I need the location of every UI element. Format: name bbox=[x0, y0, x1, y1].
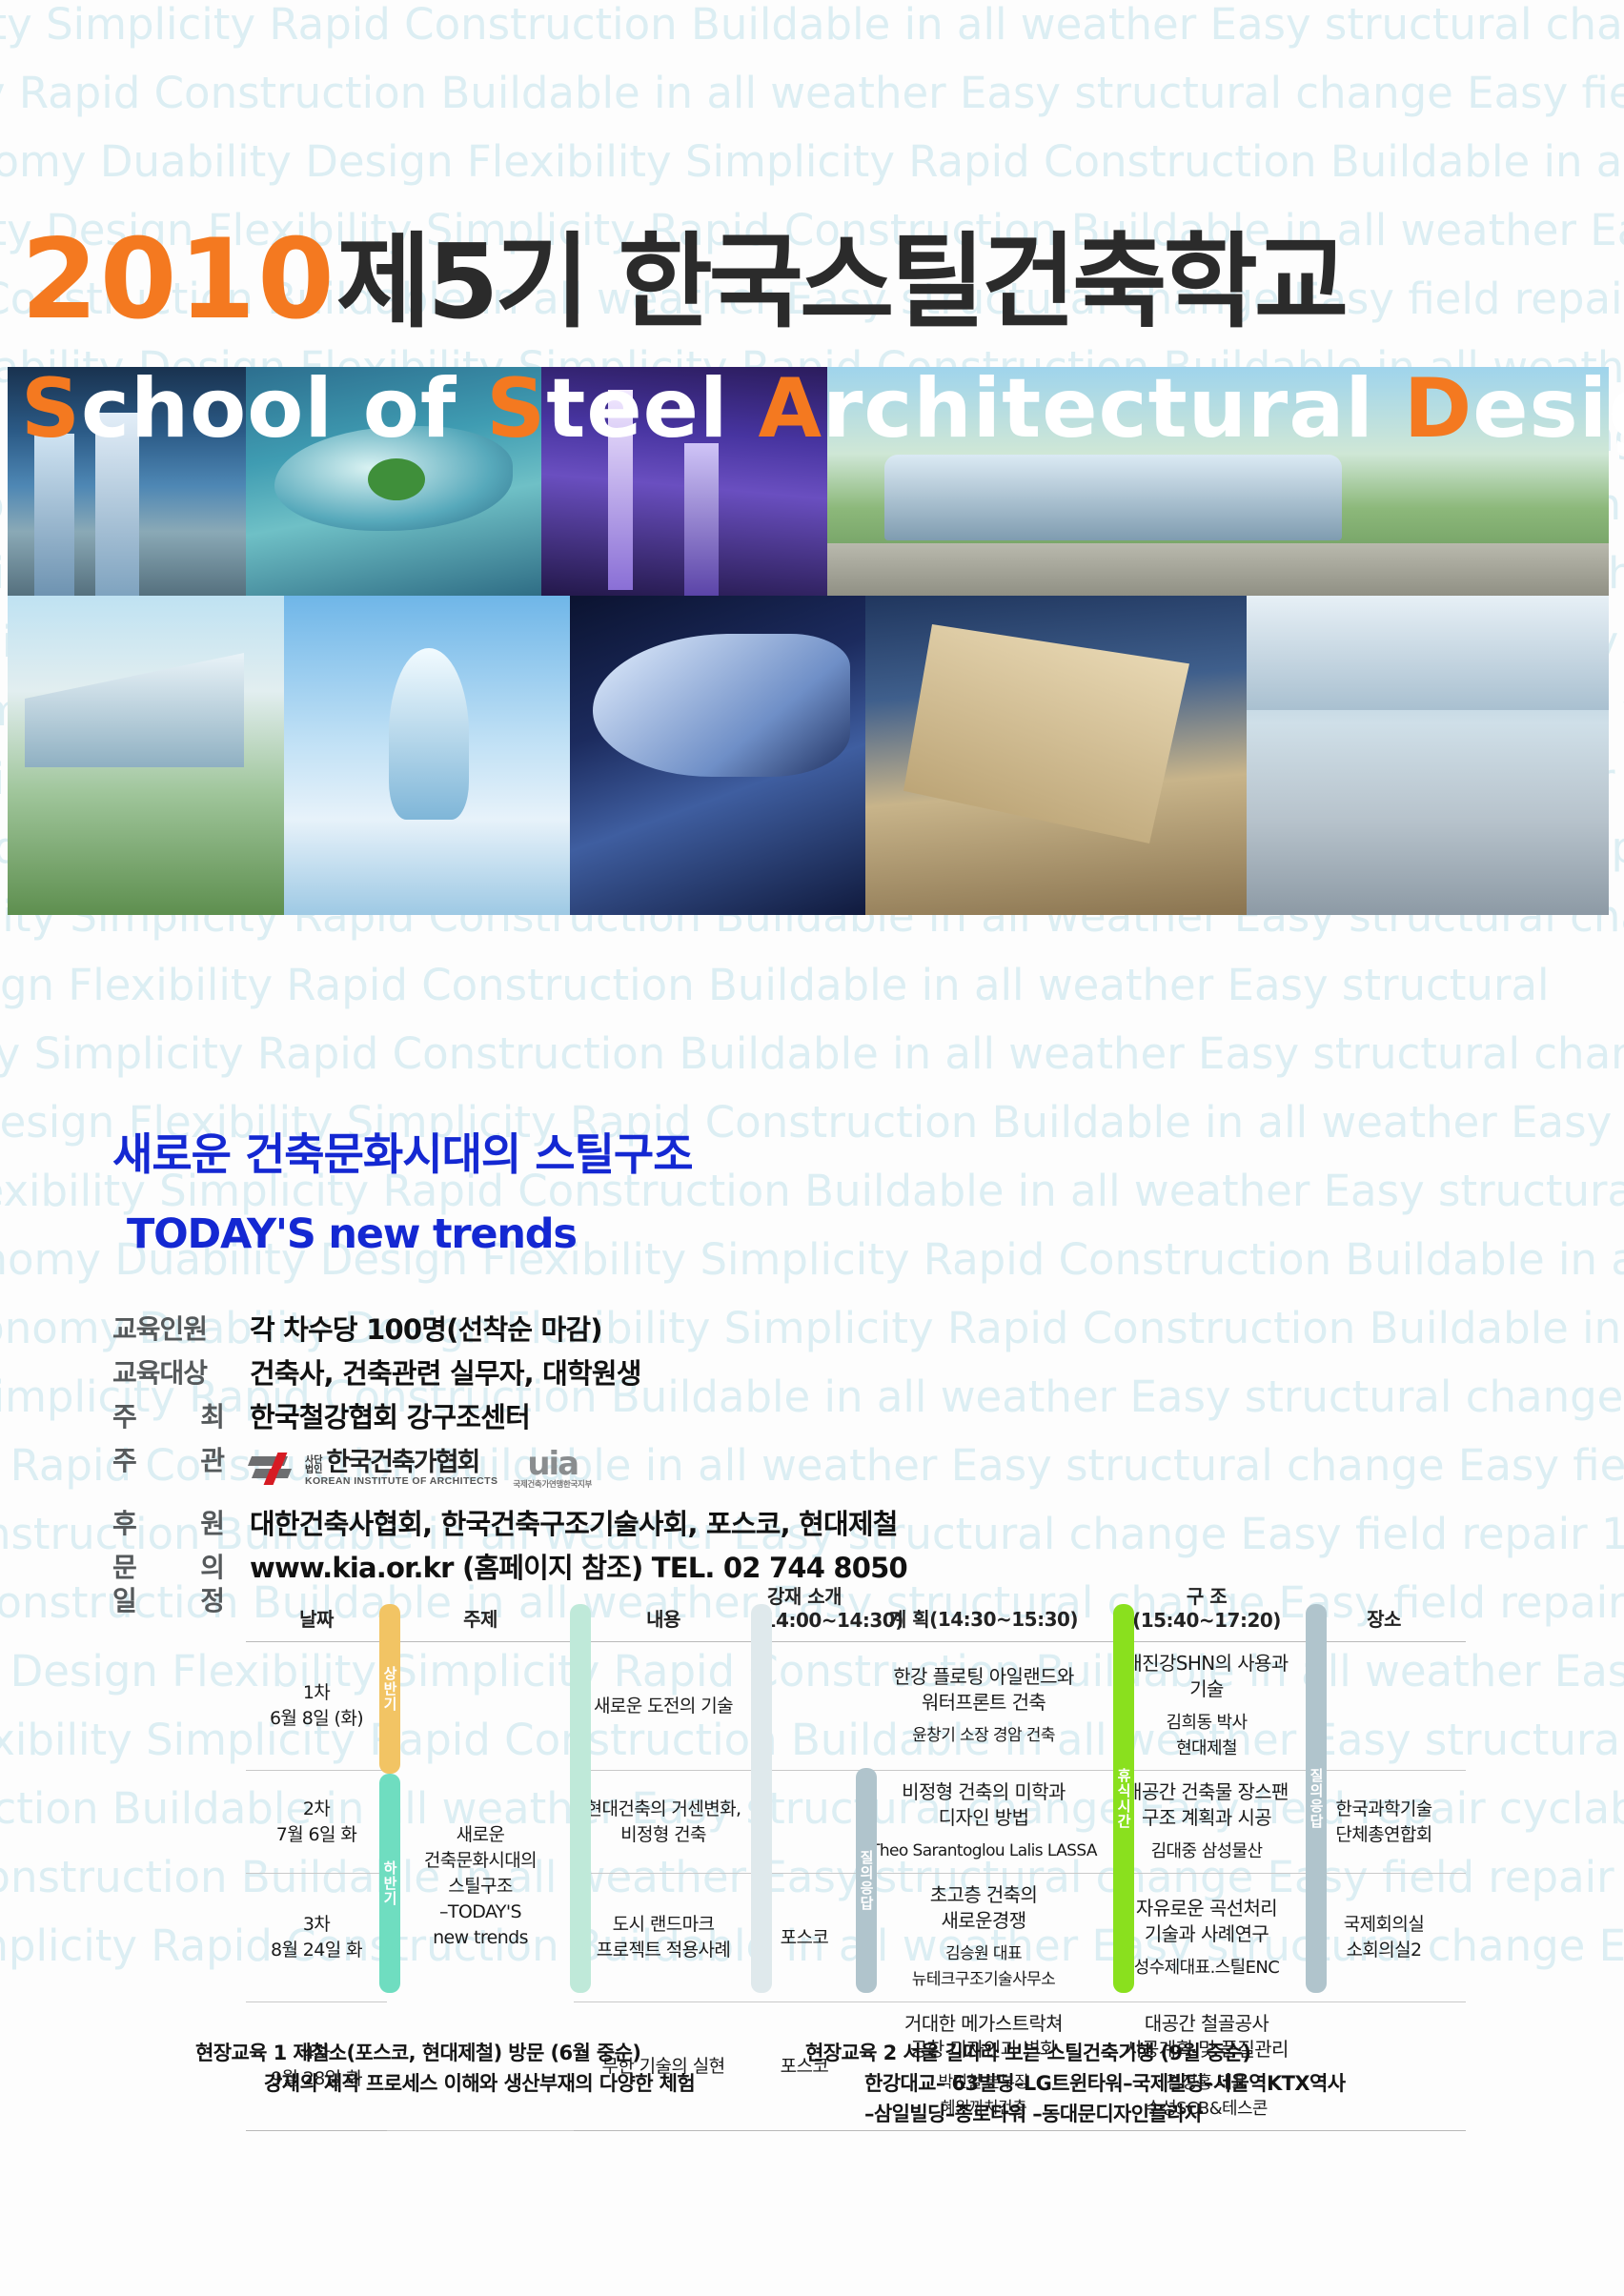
watermark-line: nomy Duability Design Flexibility Simpli… bbox=[0, 128, 1624, 196]
field-education-1-title: 현장교육 1 제철소(포스코, 현대제철) 방문 (6월 중순) bbox=[195, 2042, 640, 2064]
info-row-label: 문의 bbox=[112, 1549, 225, 1587]
headline-english: TODAY'S new trends bbox=[127, 1212, 577, 1256]
field-education-1-line2: 강재의 제작 프로세스 이해와 생산부재의 다양한 체험 bbox=[195, 2068, 695, 2099]
session-number: 1차 bbox=[303, 1682, 330, 1703]
table-header-cell: 내용 bbox=[574, 1577, 753, 1642]
table-header-cell: 계 획(14:30~15:30) bbox=[856, 1577, 1111, 1642]
kia-logo: 사단법인한국건축가협회KOREAN INSTITUTE OF ARCHITECT… bbox=[250, 1450, 497, 1488]
theme-line: –TODAY'S bbox=[391, 1900, 570, 1925]
upper-half-bar: 상반기 bbox=[379, 1604, 400, 1774]
poster-root: ility Simplicity Rapid Construction Buil… bbox=[0, 0, 1624, 2296]
cell-content: 현대건축의 거센변화,비정형 건축 bbox=[574, 1771, 753, 1874]
structure-title-line: 구조 계획과 시공 bbox=[1115, 1805, 1298, 1831]
plan-speaker-line: 뉴테크구조기술사무소 bbox=[860, 1967, 1107, 1993]
info-list: 교육인원각 차수당 100명(선착순 마감)교육대상건축사, 건축관련 실무자,… bbox=[0, 1311, 1624, 1593]
structure-speaker-line: 성수제대표.스틸ENC bbox=[1115, 1955, 1298, 1981]
uia-logo: uia국제건축가연맹한국지부 bbox=[513, 1449, 592, 1490]
photo-station-complex bbox=[8, 596, 284, 915]
field-education-2: 현장교육 2 서울 길따라 보는 스틸건축기행 (9월 중순) 한강대교– 63… bbox=[805, 2038, 1345, 2129]
break-bar: 휴식시간 bbox=[1113, 1604, 1134, 1993]
cell-content: 도시 랜드마크프로젝트 적용사례 bbox=[574, 1874, 753, 2002]
info-row-value: 대한건축사협회, 한국건축구조기술사회, 포스코, 현대제철 bbox=[250, 1505, 898, 1543]
info-row: 교육인원각 차수당 100명(선착순 마감) bbox=[0, 1311, 1624, 1351]
plan-speaker-line: Theo Sarantoglou Lalis LASSA bbox=[860, 1839, 1107, 1864]
title-block: 2010제5기 한국스틸건축학교 bbox=[0, 229, 1624, 335]
theme-line: 건축문화시대의 bbox=[391, 1848, 570, 1874]
structure-speaker-line: 김대중 삼성물산 bbox=[1115, 1839, 1298, 1864]
schedule-table-head: 날짜주제내용강재 소개(14:00~14:30)계 획(14:30~15:30)… bbox=[246, 1577, 1466, 1642]
kia-korean-name: 한국건축가협회 bbox=[326, 1450, 478, 1475]
photo-tower-sky bbox=[284, 596, 570, 915]
info-label-char: 문 bbox=[112, 1549, 137, 1587]
plan-title-line: 새로운경쟁 bbox=[860, 1908, 1107, 1934]
photo-curved-facade bbox=[570, 596, 865, 915]
table-header-cell: 주제 bbox=[387, 1577, 574, 1642]
kia-logo-text: 사단법인한국건축가협회KOREAN INSTITUTE OF ARCHITECT… bbox=[305, 1450, 497, 1488]
info-label-char: 최 bbox=[200, 1398, 225, 1436]
break-bar-label: 휴식시간 bbox=[1115, 1768, 1132, 1829]
qa-bar-1: 질의응답 bbox=[856, 1768, 877, 1993]
watermark-line: ility Simplicity Rapid Construction Buil… bbox=[0, 0, 1624, 59]
content-line: 비정형 건축 bbox=[578, 1822, 749, 1848]
uia-subtitle: 국제건축가연맹한국지부 bbox=[513, 1479, 592, 1490]
table-header-row: 날짜주제내용강재 소개(14:00~14:30)계 획(14:30~15:30)… bbox=[246, 1577, 1466, 1642]
structure-title-line: 기술과 사례연구 bbox=[1115, 1921, 1298, 1947]
schedule-label: 일정 bbox=[112, 1582, 225, 1620]
kia-mark-icon bbox=[250, 1453, 299, 1485]
cell-structure: 내진강SHN의 사용과 기술김희동 박사현대제철 bbox=[1111, 1642, 1302, 1771]
info-row-label: 후원 bbox=[112, 1505, 225, 1543]
info-row: 주최한국철강협회 강구조센터 bbox=[0, 1398, 1624, 1438]
plan-title-line: 워터프론트 건축 bbox=[860, 1690, 1107, 1716]
watermark-line: city Rapid Construction Buildable in all… bbox=[0, 59, 1624, 128]
field-education-1: 현장교육 1 제철소(포스코, 현대제철) 방문 (6월 중순) 강재의 제작 … bbox=[195, 2038, 695, 2099]
info-label-char: 의 bbox=[200, 1549, 225, 1587]
photo-montage bbox=[8, 367, 1609, 1067]
schedule-label-char: 일 bbox=[112, 1582, 137, 1620]
structure-title-line: 대공간 건축물 장스팬 bbox=[1115, 1779, 1298, 1805]
info-label-char: 원 bbox=[200, 1505, 225, 1543]
title-year: 2010 bbox=[21, 215, 336, 344]
plan-title-line: 비정형 건축의 미학과 bbox=[860, 1779, 1107, 1805]
place-line: 소회의실2 bbox=[1306, 1938, 1462, 1963]
content-line: 새로운 도전의 기술 bbox=[578, 1694, 749, 1719]
lower-half-bar-label: 하반기 bbox=[381, 1860, 398, 1906]
plan-title-line: 거대한 메가스트락쳐 bbox=[860, 2011, 1107, 2037]
photo-golden-pavilion bbox=[865, 596, 1247, 915]
plan-title-line: 한강 플로팅 아일랜드와 bbox=[860, 1664, 1107, 1690]
field-education-2-title: 현장교육 2 서울 길따라 보는 스틸건축기행 (9월 중순) bbox=[805, 2042, 1250, 2064]
structure-speaker-line: 김희동 박사 bbox=[1115, 1710, 1298, 1736]
theme-line: 스틸구조 bbox=[391, 1874, 570, 1900]
info-row-value: 한국철강협회 강구조센터 bbox=[250, 1398, 530, 1436]
photo-atrium-interior bbox=[1247, 596, 1609, 915]
field-education-2-line2: 한강대교– 63빌딩–LG트윈타워–국제빌딩–서울역KTX역사 bbox=[805, 2068, 1345, 2099]
cell-structure: 대공간 건축물 장스팬구조 계획과 시공김대중 삼성물산 bbox=[1111, 1771, 1302, 1874]
info-row: 후원대한건축사협회, 한국건축구조기술사회, 포스코, 현대제철 bbox=[0, 1505, 1624, 1545]
title-english-overlay: School of Steel Architectural Design bbox=[0, 353, 1624, 467]
info-label-char: 주 bbox=[112, 1442, 137, 1480]
content-divider-bar bbox=[751, 1604, 772, 1993]
theme-divider-bar bbox=[570, 1604, 591, 1993]
cell-plan: 비정형 건축의 미학과디자인 방법Theo Sarantoglou Lalis … bbox=[856, 1771, 1111, 1874]
theme-line: new trends bbox=[391, 1925, 570, 1951]
session-date: 8월 24일 화 bbox=[271, 1940, 362, 1961]
session-date: 6월 8일 (화) bbox=[270, 1708, 363, 1729]
table-header-cell: 구 조(15:40~17:20) bbox=[1111, 1577, 1302, 1642]
structure-speaker-line: 현대제철 bbox=[1115, 1736, 1298, 1761]
table-header-cell: 날짜 bbox=[246, 1577, 387, 1642]
cell-structure: 자유로운 곡선처리기술과 사례연구성수제대표.스틸ENC bbox=[1111, 1874, 1302, 2002]
info-row-label: 교육대상 bbox=[112, 1354, 225, 1392]
place-line: 국제회의실 bbox=[1306, 1912, 1462, 1938]
host-logos: 사단법인한국건축가협회KOREAN INSTITUTE OF ARCHITECT… bbox=[250, 1442, 592, 1495]
session-number: 3차 bbox=[303, 1914, 330, 1935]
upper-half-bar-label: 상반기 bbox=[381, 1666, 398, 1712]
content-line: 프로젝트 적용사례 bbox=[578, 1938, 749, 1963]
content-line: 현대건축의 거센변화, bbox=[578, 1797, 749, 1822]
photo-row-bottom bbox=[8, 596, 1609, 915]
place-line: 한국과학기술 bbox=[1306, 1797, 1462, 1822]
kia-english-name: KOREAN INSTITUTE OF ARCHITECTS bbox=[305, 1475, 497, 1488]
structure-title-line: 자유로운 곡선처리 bbox=[1115, 1896, 1298, 1921]
place-line: 단체총연합회 bbox=[1306, 1822, 1462, 1848]
structure-title-line: 대공간 철골공사 bbox=[1115, 2011, 1298, 2037]
table-row: 1차6월 8일 (화)새로운건축문화시대의스틸구조–TODAY'Snew tre… bbox=[246, 1642, 1466, 1771]
qa-bar-1-label: 질의응답 bbox=[858, 1850, 875, 1911]
info-row-label: 주최 bbox=[112, 1398, 225, 1436]
qa-bar-2-label: 질의응답 bbox=[1308, 1768, 1325, 1829]
title-korean: 제5기 한국스틸건축학교 bbox=[336, 223, 1345, 342]
session-number: 2차 bbox=[303, 1798, 330, 1819]
info-row-label: 주관 bbox=[112, 1442, 225, 1480]
kia-beobin: 법인 bbox=[305, 1466, 322, 1475]
plan-title-line: 디자인 방법 bbox=[860, 1805, 1107, 1831]
field-education-2-line3: –삼일빌딩–종로타워 –동대문디자인플라자 bbox=[805, 2099, 1345, 2129]
uia-wordmark: uia bbox=[527, 1449, 578, 1479]
plan-speaker-line: 윤창기 소장 경암 건축 bbox=[860, 1723, 1107, 1749]
cell-plan: 한강 플로팅 아일랜드와워터프론트 건축윤창기 소장 경암 건축 bbox=[856, 1642, 1111, 1771]
info-row: 주관사단법인한국건축가협회KOREAN INSTITUTE OF ARCHITE… bbox=[0, 1442, 1624, 1501]
cell-plan: 초고층 건축의새로운경쟁김승원 대표뉴테크구조기술사무소 bbox=[856, 1874, 1111, 2002]
plan-speaker-line: 김승원 대표 bbox=[860, 1941, 1107, 1967]
info-row-value: 건축사, 건축관련 실무자, 대학원생 bbox=[250, 1354, 641, 1392]
info-row-label: 교육인원 bbox=[112, 1311, 225, 1349]
qa-bar-2: 질의응답 bbox=[1306, 1604, 1327, 1993]
cell-date: 2차7월 6일 화 bbox=[246, 1771, 387, 1874]
info-label-char: 주 bbox=[112, 1398, 137, 1436]
theme-line: 새로운 bbox=[391, 1822, 570, 1848]
plan-title-line: 초고층 건축의 bbox=[860, 1882, 1107, 1908]
cell-date: 3차8월 24일 화 bbox=[246, 1874, 387, 2002]
structure-title-line: 내진강SHN의 사용과 기술 bbox=[1115, 1651, 1298, 1702]
info-row-value: 각 차수당 100명(선착순 마감) bbox=[250, 1311, 602, 1349]
svg-text:School of Steel Architectural: School of Steel Architectural Design bbox=[21, 361, 1624, 457]
cell-date: 1차6월 8일 (화) bbox=[246, 1642, 387, 1771]
info-row: 교육대상건축사, 건축관련 실무자, 대학원생 bbox=[0, 1354, 1624, 1394]
lower-half-bar: 하반기 bbox=[379, 1774, 400, 1993]
session-date: 7월 6일 화 bbox=[276, 1824, 357, 1845]
info-label-char: 후 bbox=[112, 1505, 137, 1543]
content-line: 도시 랜드마크 bbox=[578, 1912, 749, 1938]
info-label-char: 관 bbox=[200, 1442, 225, 1480]
cell-content: 새로운 도전의 기술 bbox=[574, 1642, 753, 1771]
headline-korean: 새로운 건축문화시대의 스틸구조 bbox=[112, 1129, 693, 1179]
main-title: 2010제5기 한국스틸건축학교 bbox=[0, 229, 1624, 335]
schedule-label-char: 정 bbox=[200, 1582, 225, 1620]
